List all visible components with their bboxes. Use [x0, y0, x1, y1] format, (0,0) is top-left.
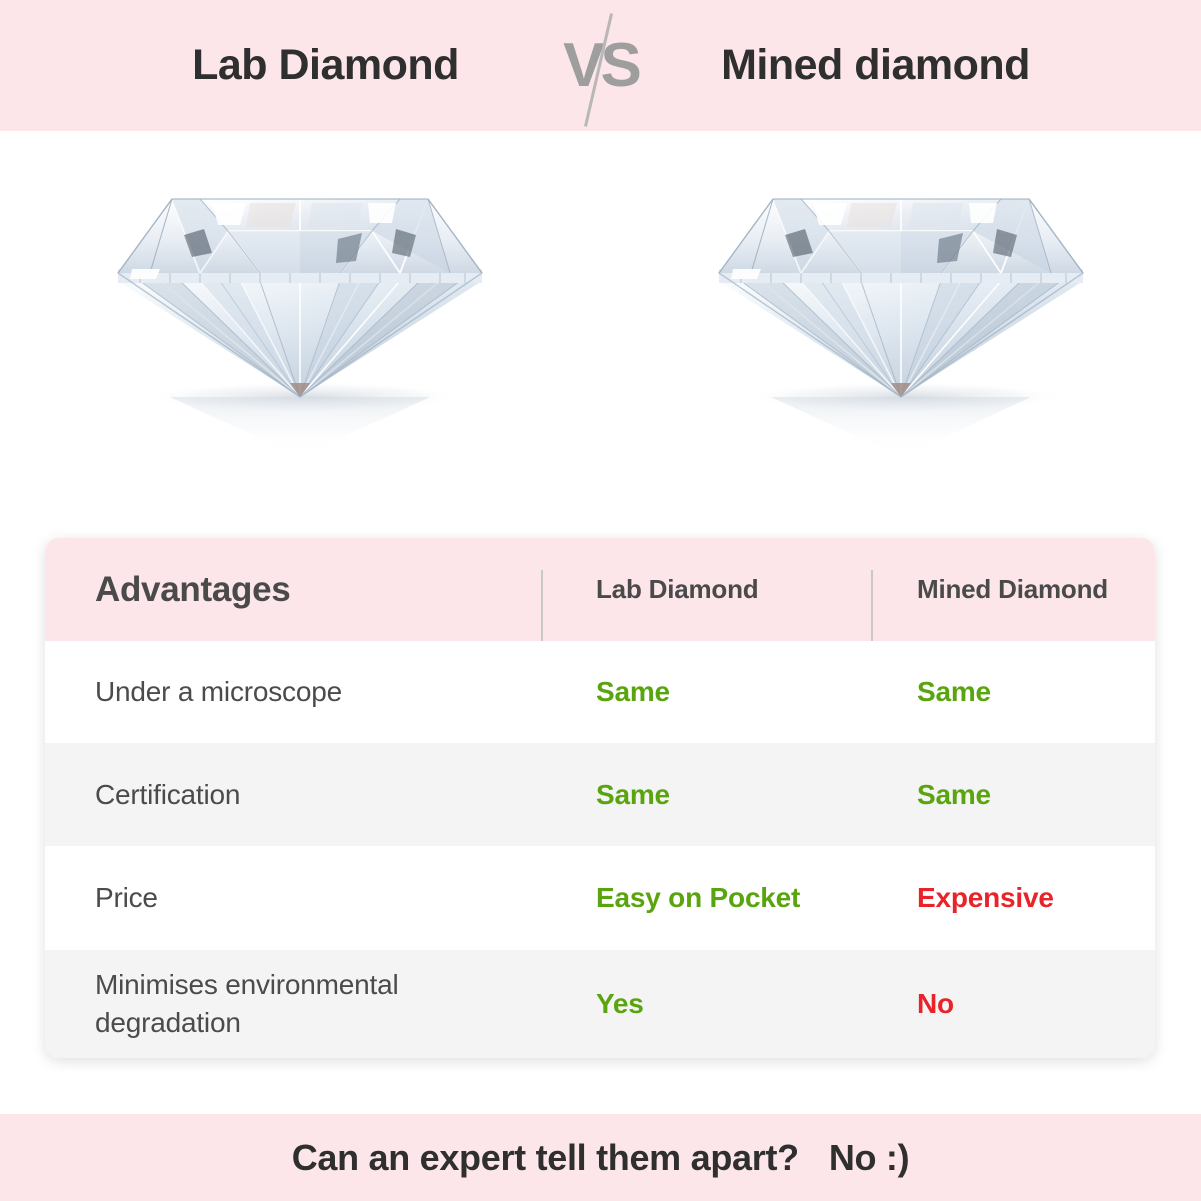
- versus-badge: VS: [541, 6, 661, 126]
- row-mined-value: Same: [917, 779, 991, 810]
- header-band: Lab Diamond VS Mined diamond: [0, 0, 1201, 131]
- header-cell-mined: Mined Diamond: [871, 574, 1155, 605]
- row-lab-cell: Same: [541, 676, 871, 708]
- footer-band: Can an expert tell them apart? No :): [0, 1114, 1201, 1201]
- row-mined-value: Same: [917, 676, 991, 707]
- footer-answer: No :): [829, 1137, 909, 1179]
- table-row: Certification Same Same: [45, 743, 1155, 846]
- row-feature-cell: Certification: [45, 776, 541, 814]
- row-feature-cell: Price: [45, 879, 541, 917]
- table-row: Under a microscope Same Same: [45, 641, 1155, 743]
- row-lab-cell: Yes: [541, 988, 871, 1020]
- row-feature-label: Under a microscope: [95, 676, 342, 707]
- comparison-table-card: Advantages Lab Diamond Mined Diamond Und…: [45, 538, 1155, 1058]
- header-title-mined: Mined diamond: [661, 41, 1091, 90]
- row-mined-cell: No: [871, 988, 1155, 1020]
- row-mined-value: Expensive: [917, 882, 1054, 913]
- mined-diamond-icon: [701, 169, 1101, 459]
- lab-diamond-cell: [0, 131, 601, 531]
- row-feature-cell: Minimises environmental degradation: [45, 966, 541, 1042]
- lab-diamond-icon: [100, 169, 500, 459]
- row-mined-cell: Same: [871, 676, 1155, 708]
- infographic-page: Lab Diamond VS Mined diamond: [0, 0, 1201, 1201]
- row-lab-cell: Same: [541, 779, 871, 811]
- header-cell-advantages: Advantages: [45, 570, 541, 610]
- header-label-mined: Mined Diamond: [917, 574, 1108, 604]
- row-lab-cell: Easy on Pocket: [541, 882, 871, 914]
- row-feature-cell: Under a microscope: [45, 673, 541, 711]
- header-title-lab: Lab Diamond: [111, 41, 541, 90]
- row-feature-label: Certification: [95, 779, 240, 810]
- diamond-image-row: [0, 131, 1201, 531]
- table-header-row: Advantages Lab Diamond Mined Diamond: [45, 538, 1155, 641]
- row-feature-label: Minimises environmental degradation: [95, 969, 399, 1038]
- header-label-advantages: Advantages: [95, 570, 290, 609]
- row-lab-value: Same: [596, 676, 670, 707]
- row-lab-value: Yes: [596, 988, 644, 1019]
- row-mined-cell: Same: [871, 779, 1155, 811]
- row-mined-cell: Expensive: [871, 882, 1155, 914]
- mined-diamond-cell: [601, 131, 1201, 531]
- row-lab-value: Same: [596, 779, 670, 810]
- header-cell-lab: Lab Diamond: [541, 574, 871, 605]
- row-mined-value: No: [917, 988, 954, 1019]
- footer-question: Can an expert tell them apart?: [292, 1137, 799, 1179]
- row-lab-value: Easy on Pocket: [596, 882, 800, 913]
- row-feature-label: Price: [95, 882, 158, 913]
- header-label-lab: Lab Diamond: [596, 574, 758, 604]
- table-row: Minimises environmental degradation Yes …: [45, 950, 1155, 1058]
- table-row: Price Easy on Pocket Expensive: [45, 846, 1155, 950]
